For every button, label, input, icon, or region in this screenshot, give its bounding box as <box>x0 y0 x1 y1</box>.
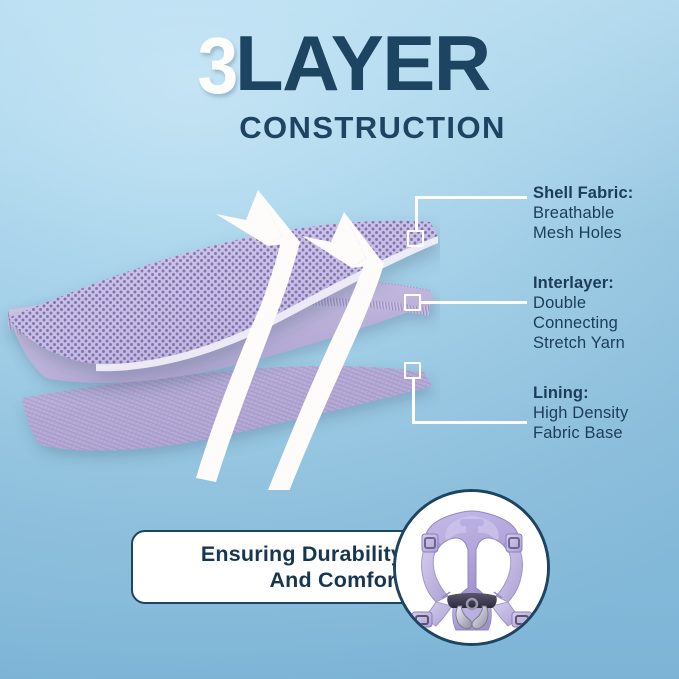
buckle-top-right <box>506 534 522 552</box>
fabric-layers-illustration <box>0 150 440 490</box>
callout-interlayer-text: Interlayer: Double Connecting Stretch Ya… <box>533 273 625 354</box>
callout-shell-fabric-heading: Shell Fabric: <box>533 183 633 203</box>
callout-lining-line1: High Density <box>533 403 628 423</box>
callout-interlayer-line1: Double <box>533 293 625 313</box>
page-title: 3 LAYER CONSTRUCTION <box>0 26 679 136</box>
callout-leader-lining-horizontal <box>412 421 527 424</box>
tagline-banner: Ensuring Durability And Comfort <box>131 530 423 604</box>
title-number: 3 <box>197 28 235 105</box>
callout-lining-text: Lining: High Density Fabric Base <box>533 383 628 443</box>
callout-lining-heading: Lining: <box>533 383 628 403</box>
title-word-layer: LAYER <box>235 26 490 101</box>
callout-interlayer-heading: Interlayer: <box>533 273 625 293</box>
callout-leader-interlayer-horizontal <box>421 301 527 304</box>
product-image-circle <box>393 489 550 646</box>
dog-harness-icon <box>396 492 547 643</box>
callout-marker-shell-fabric <box>407 230 424 247</box>
callout-interlayer-line3: Stretch Yarn <box>533 333 625 353</box>
callout-leader-lining-vertical <box>412 378 415 423</box>
title-subtitle: CONSTRUCTION <box>0 110 679 146</box>
callout-shell-fabric-line1: Breathable <box>533 203 633 223</box>
callout-shell-fabric-text: Shell Fabric: Breathable Mesh Holes <box>533 183 633 243</box>
title-row: 3 LAYER <box>0 26 679 103</box>
callout-leader-shell-vertical <box>415 196 418 232</box>
tagline-line1: Ensuring Durability <box>201 541 403 567</box>
buckle-top-left <box>422 534 438 552</box>
callout-lining: Lining: High Density Fabric Base <box>533 383 628 443</box>
callout-shell-fabric-line2: Mesh Holes <box>533 223 633 243</box>
callout-marker-lining <box>404 362 421 379</box>
callout-lining-line2: Fabric Base <box>533 423 628 443</box>
tagline-line2: And Comfort <box>201 567 403 593</box>
callout-shell-fabric: Shell Fabric: Breathable Mesh Holes <box>533 183 633 243</box>
callout-interlayer-line2: Connecting <box>533 313 625 333</box>
callout-marker-interlayer <box>404 294 421 311</box>
callout-interlayer: Interlayer: Double Connecting Stretch Ya… <box>533 273 625 354</box>
tagline-text: Ensuring Durability And Comfort <box>201 541 403 593</box>
callout-leader-shell-horizontal <box>415 196 527 199</box>
